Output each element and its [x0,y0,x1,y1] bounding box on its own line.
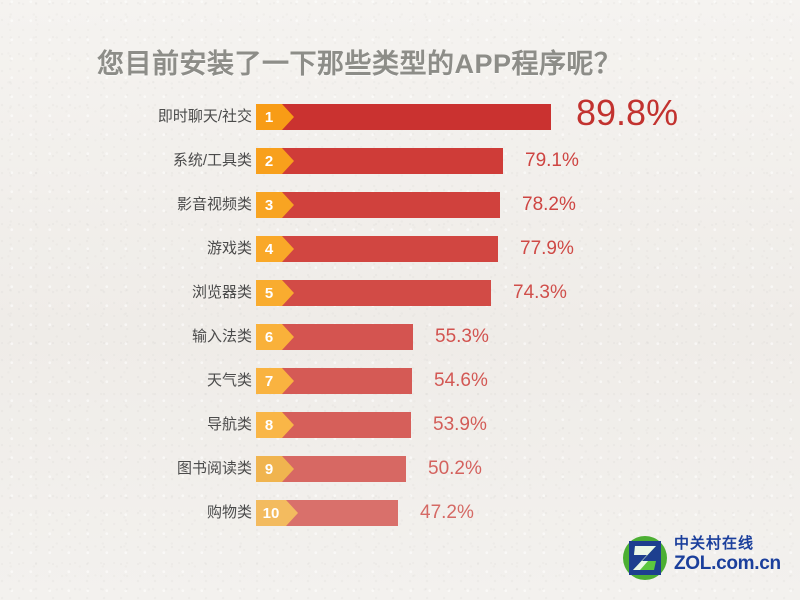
rank-tag-arrow-icon [282,148,294,174]
bar-rank-number: 9 [265,462,273,477]
bar-value-label: 89.8% [576,100,678,126]
bar-fill [282,368,412,394]
bar-fill [282,236,498,262]
bar-fill [282,324,413,350]
bar-rank-number: 4 [265,242,273,257]
bar-rank-tag: 3 [256,192,282,218]
rank-tag-arrow-icon [282,236,294,262]
rank-tag-arrow-icon [282,192,294,218]
bar-category-label: 浏览器类 [192,280,252,306]
bar-fill [282,104,551,130]
zol-logo-text: 中关村在线 ZOL.com.cn [674,536,781,573]
bar-value-label: 47.2% [420,500,474,526]
bar-category-label: 游戏类 [207,236,252,262]
rank-tag-arrow-icon [282,368,294,394]
bar-row: 天气类754.6% [0,368,800,412]
bar-rank-number: 2 [265,154,273,169]
bar-fill [282,148,503,174]
bar-rank-number: 6 [265,330,273,345]
rank-tag-arrow-icon [282,104,294,130]
zol-logo-cn: 中关村在线 [674,536,781,551]
bar-category-label: 购物类 [207,500,252,526]
page-title: 您目前安装了一下那些类型的APP程序呢？ [97,42,622,81]
bar-category-label: 输入法类 [192,324,252,350]
bar-row: 输入法类655.3% [0,324,800,368]
bar-rank-tag: 10 [256,500,286,526]
bar-fill [282,412,411,438]
bar-row: 导航类853.9% [0,412,800,456]
bar-row: 即时聊天/社交189.8% [0,104,800,148]
zol-logo: 中关村在线 ZOL.com.cn [622,532,782,584]
bar-row: 影音视频类378.2% [0,192,800,236]
rank-tag-arrow-icon [286,500,298,526]
bar-category-label: 即时聊天/社交 [158,104,252,130]
bar-rank-tag: 8 [256,412,282,438]
bar-rank-number: 10 [263,506,280,521]
bar-row: 图书阅读类950.2% [0,456,800,500]
bar-category-label: 图书阅读类 [177,456,252,482]
bar-graphic: 8 [256,412,411,438]
bar-graphic: 10 [256,500,398,526]
zol-z-logo-icon [622,535,668,581]
bar-rank-tag: 2 [256,148,282,174]
bar-graphic: 5 [256,280,491,306]
bar-rank-tag: 5 [256,280,282,306]
bar-value-label: 78.2% [522,192,576,218]
bar-fill [282,192,500,218]
rank-tag-arrow-icon [282,412,294,438]
bar-value-label: 74.3% [513,280,567,306]
bar-graphic: 6 [256,324,413,350]
bar-rank-tag: 9 [256,456,282,482]
bar-value-label: 53.9% [433,412,487,438]
bar-fill [282,280,491,306]
bar-graphic: 7 [256,368,412,394]
rank-tag-arrow-icon [282,456,294,482]
bar-rank-number: 7 [265,374,273,389]
bar-value-label: 77.9% [520,236,574,262]
bar-graphic: 4 [256,236,498,262]
bar-category-label: 影音视频类 [177,192,252,218]
bar-graphic: 9 [256,456,406,482]
bar-rank-number: 5 [265,286,273,301]
bar-chart: 即时聊天/社交189.8%系统/工具类279.1%影音视频类378.2%游戏类4… [0,104,800,544]
bar-row: 游戏类477.9% [0,236,800,280]
bar-rank-number: 8 [265,418,273,433]
bar-value-label: 55.3% [435,324,489,350]
rank-tag-arrow-icon [282,324,294,350]
bar-rank-number: 3 [265,198,273,213]
bar-row: 系统/工具类279.1% [0,148,800,192]
bar-rank-tag: 7 [256,368,282,394]
bar-row: 浏览器类574.3% [0,280,800,324]
bar-graphic: 3 [256,192,500,218]
rank-tag-arrow-icon [282,280,294,306]
bar-fill [286,500,398,526]
bar-category-label: 天气类 [207,368,252,394]
bar-value-label: 50.2% [428,456,482,482]
bar-fill [282,456,406,482]
bar-rank-tag: 6 [256,324,282,350]
bar-graphic: 2 [256,148,503,174]
bar-graphic: 1 [256,104,551,130]
bar-rank-tag: 4 [256,236,282,262]
bar-rank-tag: 1 [256,104,282,130]
zol-logo-en: ZOL.com.cn [674,554,781,573]
bar-value-label: 54.6% [434,368,488,394]
bar-rank-number: 1 [265,110,273,125]
bar-category-label: 导航类 [207,412,252,438]
bar-category-label: 系统/工具类 [173,148,252,174]
bar-value-label: 79.1% [525,148,579,174]
